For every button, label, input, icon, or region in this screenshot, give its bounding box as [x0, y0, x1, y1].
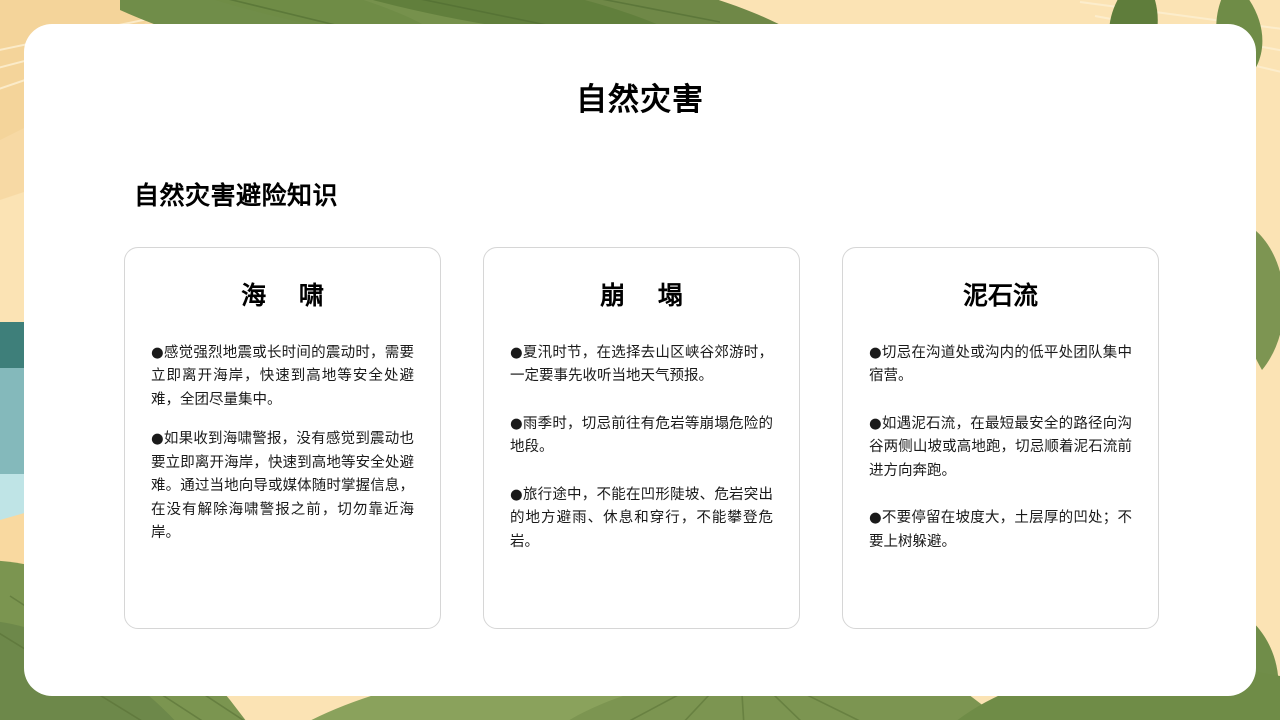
section-title: 自然灾害避险知识: [134, 176, 338, 212]
topic-card-title: 泥石流: [869, 276, 1132, 312]
topic-card-body: ●感觉强烈地震或长时间的震动时，需要立即离开海岸，快速到高地等安全处避难，全团尽…: [151, 342, 414, 546]
bullet-item: ●不要停留在坡度大，土层厚的凹处；不要上树躲避。: [869, 507, 1132, 554]
topic-card-title: 海 啸: [151, 276, 414, 312]
bullet-item: ●雨季时，切忌前往有危岩等崩塌危险的地段。: [510, 413, 773, 460]
bullet-item: ●旅行途中，不能在凹形陡坡、危岩突出的地方避雨、休息和穿行，不能攀登危岩。: [510, 484, 773, 554]
topic-card-body: ●夏汛时节，在选择去山区峡谷郊游时，一定要事先收听当地天气预报。 ●雨季时，切忌…: [510, 342, 773, 554]
bullet-item: ●如果收到海啸警报，没有感觉到震动也要立即离开海岸，快速到高地等安全处避难。通过…: [151, 428, 414, 545]
bullet-item: ●夏汛时节，在选择去山区峡谷郊游时，一定要事先收听当地天气预报。: [510, 342, 773, 389]
topic-card-body: ●切忌在沟道处或沟内的低平处团队集中宿营。 ●如遇泥石流，在最短最安全的路径向沟…: [869, 342, 1132, 554]
bullet-item: ●切忌在沟道处或沟内的低平处团队集中宿营。: [869, 342, 1132, 389]
content-panel: 自然灾害 自然灾害避险知识 海 啸 ●感觉强烈地震或长时间的震动时，需要立即离开…: [24, 24, 1256, 696]
topic-card-title: 崩 塌: [510, 276, 773, 312]
topic-card-collapse[interactable]: 崩 塌 ●夏汛时节，在选择去山区峡谷郊游时，一定要事先收听当地天气预报。 ●雨季…: [483, 247, 800, 629]
bullet-item: ●如遇泥石流，在最短最安全的路径向沟谷两侧山坡或高地跑，切忌顺着泥石流前进方向奔…: [869, 413, 1132, 483]
topic-card-tsunami[interactable]: 海 啸 ●感觉强烈地震或长时间的震动时，需要立即离开海岸，快速到高地等安全处避难…: [124, 247, 441, 629]
slide-root: 自然灾害 自然灾害避险知识 海 啸 ●感觉强烈地震或长时间的震动时，需要立即离开…: [0, 0, 1280, 720]
topic-card-debris-flow[interactable]: 泥石流 ●切忌在沟道处或沟内的低平处团队集中宿营。 ●如遇泥石流，在最短最安全的…: [842, 247, 1159, 629]
topic-cards-row: 海 啸 ●感觉强烈地震或长时间的震动时，需要立即离开海岸，快速到高地等安全处避难…: [124, 247, 1159, 629]
page-title: 自然灾害: [24, 74, 1256, 119]
bullet-item: ●感觉强烈地震或长时间的震动时，需要立即离开海岸，快速到高地等安全处避难，全团尽…: [151, 342, 414, 412]
